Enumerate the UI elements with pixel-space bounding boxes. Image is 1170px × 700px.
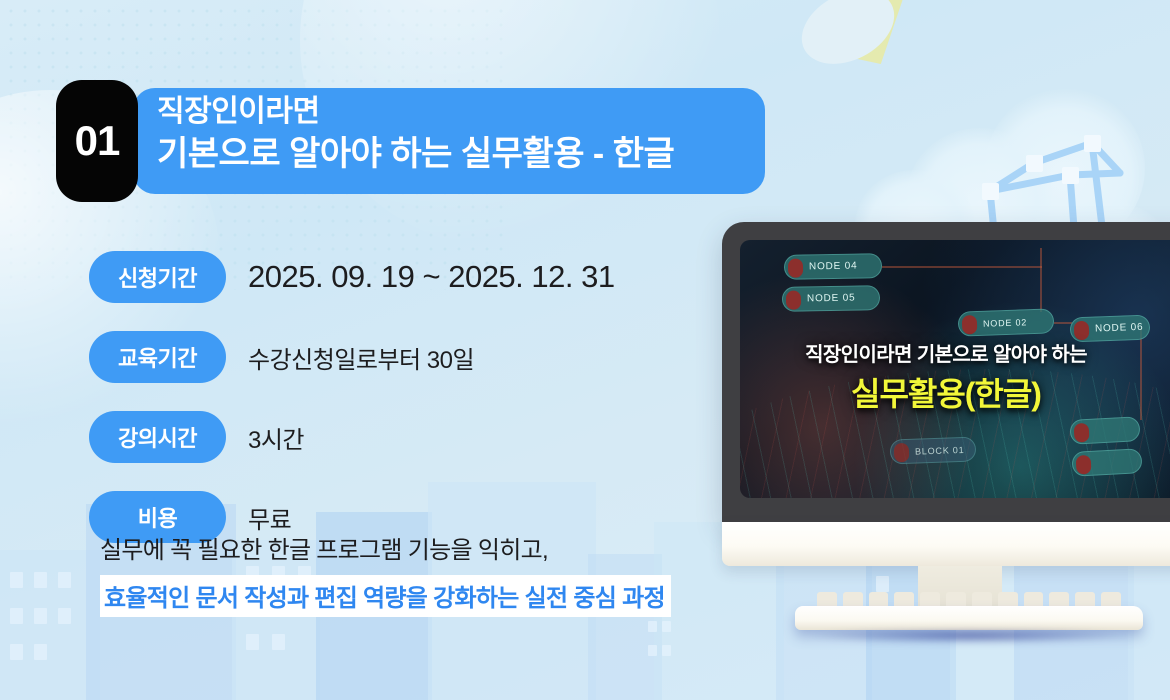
monitor-bezel: NODE 04 NODE 05 NODE 02 NODE 06 BLOCK 01… [722,222,1170,522]
screen-node-05: NODE 05 [782,285,880,312]
monitor-screen: NODE 04 NODE 05 NODE 02 NODE 06 BLOCK 01… [740,240,1170,498]
value-cost: 무료 [248,500,291,535]
course-number-badge: 01 [56,80,138,202]
screen-node-04: NODE 04 [784,253,882,280]
keyboard-body [795,606,1143,630]
label-lecture-time: 강의시간 [89,411,226,463]
value-education-period: 수강신청일로부터 30일 [248,340,474,375]
node-label: NODE 02 [983,317,1027,329]
pill-label: 강의시간 [118,421,197,453]
screen-title-line1: 직장인이라면 기본으로 알아야 하는 [740,338,1152,367]
value-lecture-time: 3시간 [248,420,304,455]
description-line-1: 실무에 꼭 필요한 한글 프로그램 기능을 익히고, [100,534,800,569]
promo-banner: NODE 04 NODE 05 NODE 02 NODE 06 BLOCK 01… [0,0,1170,700]
info-row-lecture-time: 강의시간 3시간 [89,406,709,468]
screen-block-01: BLOCK 01 [890,437,977,465]
course-title: 직장인이라면 기본으로 알아야 하는 실무활용 - 한글 [157,94,757,175]
keyboard-illustration [795,592,1143,634]
monitor-illustration: NODE 04 NODE 05 NODE 02 NODE 06 BLOCK 01… [722,222,1170,522]
label-application-period: 신청기간 [89,251,226,303]
node-label: NODE 06 [1095,322,1144,335]
pill-label: 교육기간 [118,341,197,373]
info-row-application-period: 신청기간 2025. 09. 19 ~ 2025. 12. 31 [89,246,709,308]
pill-label: 신청기간 [118,261,197,293]
screen-title-line2: 실무활용(한글) [740,369,1152,415]
screen-title-block: 직장인이라면 기본으로 알아야 하는 실무활용(한글) [740,338,1170,415]
screen-node-right-1 [1069,416,1140,445]
screen-node-02: NODE 02 [958,308,1055,336]
node-label: NODE 04 [809,261,858,273]
course-number: 01 [75,117,120,165]
title-line-1: 직장인이라면 [157,94,757,131]
course-info-list: 신청기간 2025. 09. 19 ~ 2025. 12. 31 교육기간 수강… [89,246,709,548]
spotlight-cone-icon [795,0,925,104]
node-label: BLOCK 01 [915,444,965,456]
course-description: 실무에 꼭 필요한 한글 프로그램 기능을 익히고, 효율적인 문서 작성과 편… [100,534,800,617]
info-row-education-period: 교육기간 수강신청일로부터 30일 [89,326,709,388]
pill-label: 비용 [138,501,177,533]
label-education-period: 교육기간 [89,331,226,383]
screen-node-right-2 [1071,448,1142,477]
node-label: NODE 05 [807,293,856,305]
description-line-2-highlight: 효율적인 문서 작성과 편집 역량을 강화하는 실전 중심 과정 [100,575,671,617]
value-application-period: 2025. 09. 19 ~ 2025. 12. 31 [248,259,615,295]
keyboard-shadow [813,630,1125,644]
title-line-2: 기본으로 알아야 하는 실무활용 - 한글 [157,134,757,175]
